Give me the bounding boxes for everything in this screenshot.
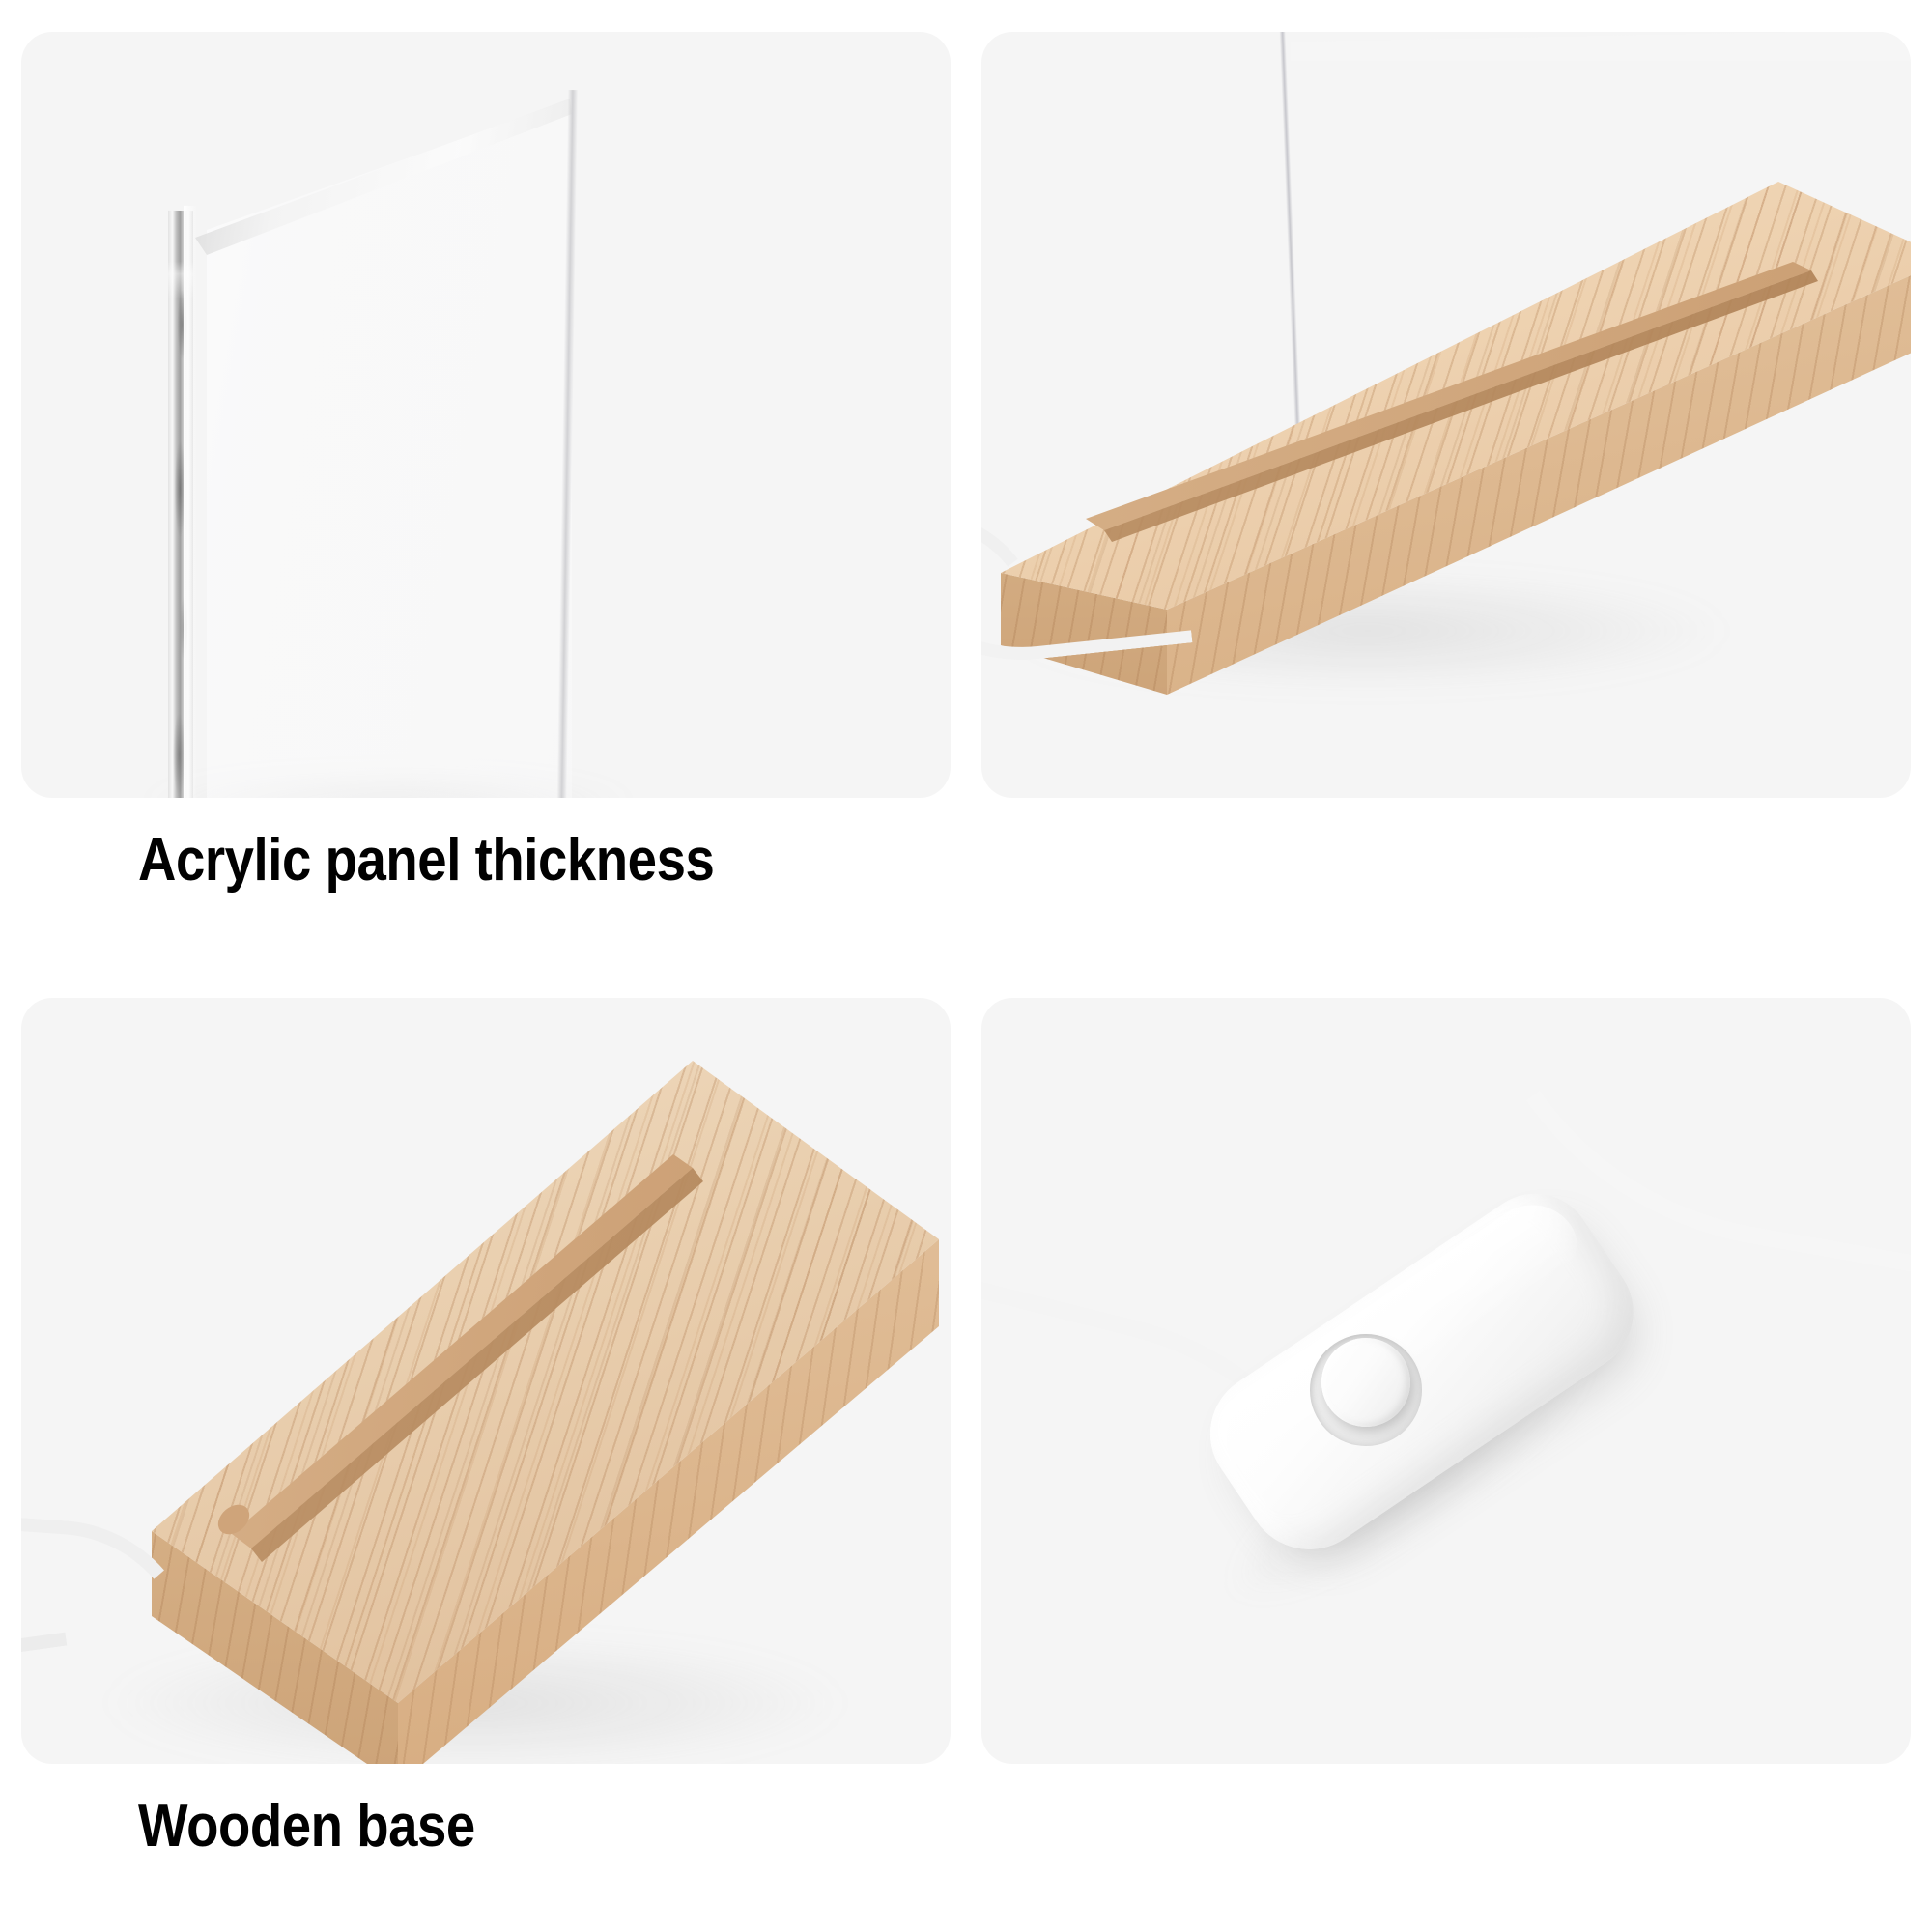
feature-cell-button-switch: Button switch	[966, 966, 1932, 1932]
acrylic-sheet-bevel-highlight	[184, 206, 197, 798]
caption-acrylic-panel-thickness: Acrylic panel thickness	[138, 826, 714, 895]
photo-acrylic-panel[interactable]	[981, 32, 1911, 798]
photo-wooden-base[interactable]	[21, 998, 951, 1764]
feature-cell-wooden-base: Wooden base	[0, 966, 966, 1932]
feature-cell-acrylic-panel: Acrylic panel	[966, 0, 1932, 966]
photo-acrylic-panel-thickness[interactable]	[21, 32, 951, 798]
feature-cell-acrylic-thickness: Acrylic panel thickness	[0, 0, 966, 966]
caption-wooden-base: Wooden base	[138, 1792, 475, 1861]
product-feature-grid: Acrylic panel thickness Acrylic panel	[0, 0, 1932, 1932]
photo-button-switch[interactable]	[981, 998, 1911, 1764]
